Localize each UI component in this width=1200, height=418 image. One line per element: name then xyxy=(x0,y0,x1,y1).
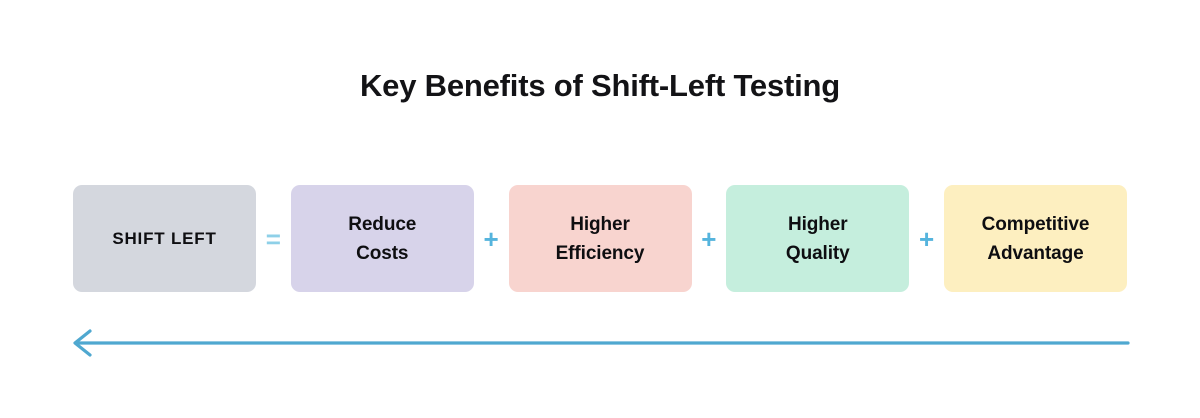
benefit-line-1: Higher xyxy=(570,214,630,235)
benefits-equation-row: SHIFT LEFT = Reduce Costs + Higher Effic… xyxy=(73,185,1127,292)
equals-operator: = xyxy=(256,185,291,292)
benefit-box-reduce-costs: Reduce Costs xyxy=(291,185,474,292)
benefit-label-competitive-advantage: Competitive Advantage xyxy=(982,210,1090,268)
diagram-canvas: Key Benefits of Shift-Left Testing SHIFT… xyxy=(0,0,1200,418)
benefit-label-higher-quality: Higher Quality xyxy=(786,210,850,268)
benefit-line-2: Costs xyxy=(356,243,408,264)
benefit-box-higher-quality: Higher Quality xyxy=(726,185,909,292)
shift-left-arrow xyxy=(68,326,1132,360)
shift-left-box: SHIFT LEFT xyxy=(73,185,256,292)
benefit-label-reduce-costs: Reduce Costs xyxy=(348,210,416,268)
benefit-line-2: Efficiency xyxy=(556,243,645,264)
benefit-box-higher-efficiency: Higher Efficiency xyxy=(509,185,692,292)
benefit-line-1: Reduce xyxy=(348,214,416,235)
plus-operator-1: + xyxy=(474,185,509,292)
benefit-line-2: Quality xyxy=(786,243,850,264)
benefit-line-1: Competitive xyxy=(982,214,1090,235)
page-title: Key Benefits of Shift-Left Testing xyxy=(0,64,1200,108)
benefit-label-higher-efficiency: Higher Efficiency xyxy=(556,210,645,268)
benefit-box-competitive-advantage: Competitive Advantage xyxy=(944,185,1127,292)
benefit-line-1: Higher xyxy=(788,214,848,235)
plus-operator-3: + xyxy=(909,185,944,292)
benefit-line-2: Advantage xyxy=(987,243,1083,264)
shift-left-label: SHIFT LEFT xyxy=(112,224,216,253)
plus-operator-2: + xyxy=(692,185,727,292)
